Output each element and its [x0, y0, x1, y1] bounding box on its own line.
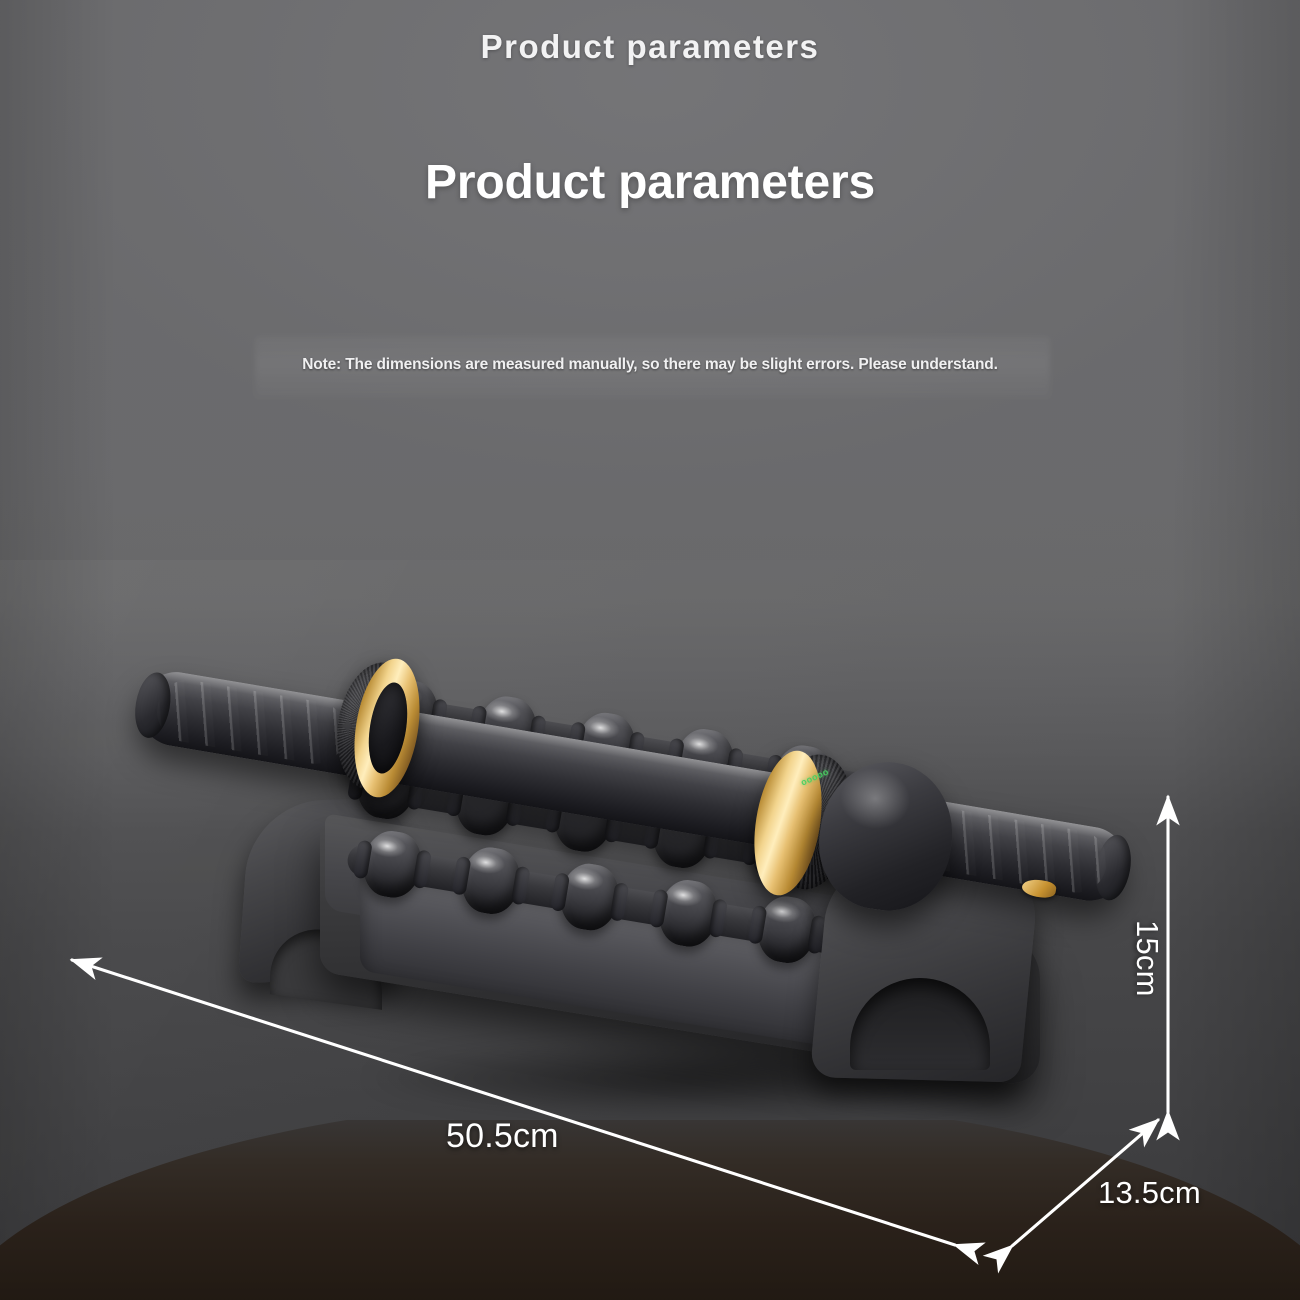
roller-bead: [358, 827, 426, 902]
page-title: Product parameters: [0, 155, 1300, 210]
roller-bead: [457, 843, 525, 918]
height-dimension-label: 15cm: [1129, 920, 1165, 997]
roller-bead: [556, 860, 624, 935]
depth-dimension-label: 13.5cm: [1098, 1175, 1201, 1211]
top-title: Product parameters: [0, 28, 1300, 66]
roller-bead: [654, 876, 722, 951]
length-dimension-label: 50.5cm: [446, 1117, 559, 1156]
roller-bead: [753, 892, 821, 967]
product-illustration: ooooo: [120, 630, 1160, 1130]
measurement-note: Note: The dimensions are measured manual…: [0, 356, 1300, 374]
product-parameters-image: Product parameters Product parameters No…: [0, 0, 1300, 1300]
